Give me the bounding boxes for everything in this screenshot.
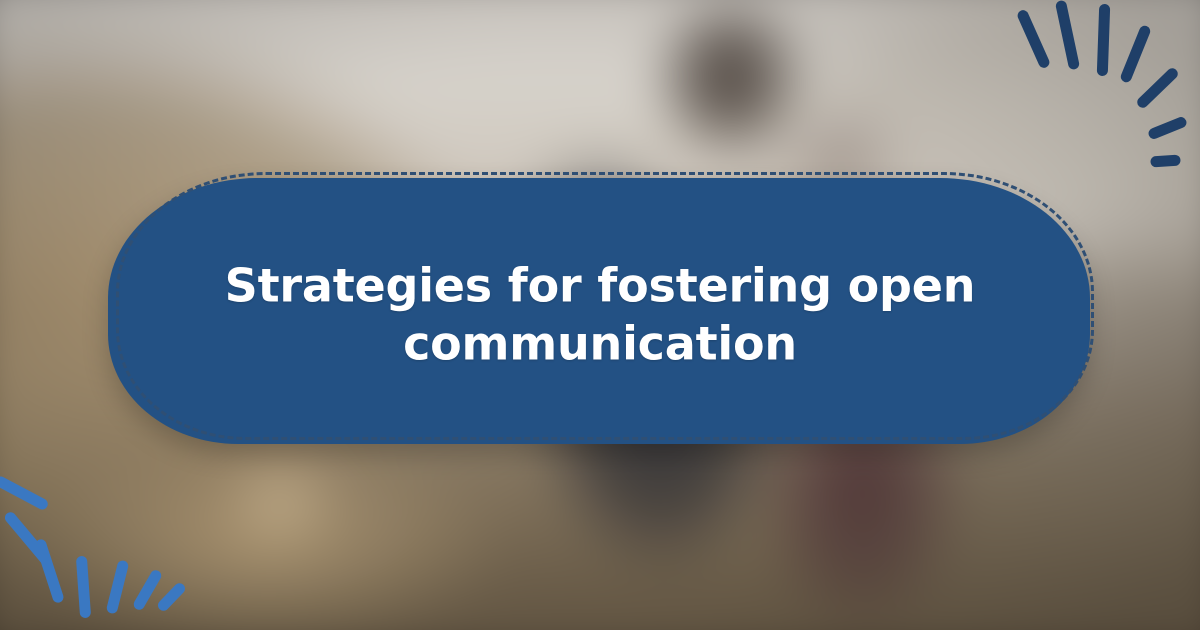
sparkle-burst-top-right <box>1010 0 1200 190</box>
page-title: Strategies for fostering open communicat… <box>0 258 1200 373</box>
sparkle-ray <box>1097 4 1111 76</box>
sparkle-ray <box>34 538 65 604</box>
sparkle-burst-bottom-left <box>0 440 190 630</box>
sparkle-ray <box>156 581 188 613</box>
sparkle-ray <box>1147 115 1188 140</box>
social-card: Strategies for fostering open communicat… <box>0 0 1200 630</box>
sparkle-ray <box>1119 24 1152 84</box>
sparkle-ray <box>76 556 91 619</box>
sparkle-ray <box>1135 66 1180 110</box>
sparkle-ray <box>1016 8 1051 69</box>
sparkle-ray <box>1055 0 1080 70</box>
sparkle-ray <box>106 559 130 614</box>
sparkle-ray <box>1150 154 1181 167</box>
sparkle-ray <box>0 475 50 512</box>
